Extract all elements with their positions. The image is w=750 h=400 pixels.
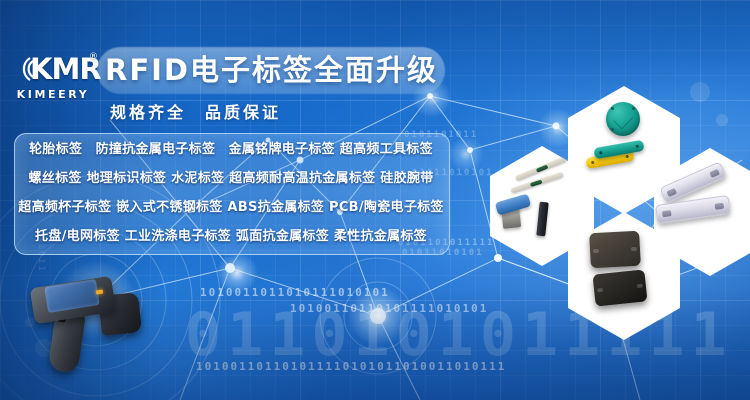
rfid-promo-banner: 0110101011111 1010011011010111010101 101… [0,0,750,400]
binary-text-3: 101001101101011110101011010011010111 [196,360,506,373]
handheld-rfid-reader [24,268,164,386]
product-row: 螺丝标签 地理标识标签 水泥标签 超高频耐高温抗金属标签 硅胶腕带 [14,164,448,193]
glow-node-mid [448,136,484,172]
registered-trademark-icon: ® [89,53,97,62]
glow-node-mid2 [216,252,258,294]
abs-tag-upper [589,231,641,269]
brand-wordmark: KIMEERY [12,88,94,101]
product-row: 超高频杯子标签 嵌入式不锈钢标签 ABS抗金属标签 PCB/陶瓷电子标签 [14,193,448,222]
stick-tag [536,202,549,237]
headline-text: RFID电子标签全面升级 [105,48,445,93]
glow-node-center [348,286,408,346]
binary-text-2: 10100110110101111010101 [290,302,488,315]
brand-arcs-icon [14,56,34,82]
disc-tag [606,102,640,136]
binary-text-1: 1010011011010111010101 [200,286,390,299]
product-list-rows: 轮胎标签 防撞抗金属电子标签 金属铭牌电子标签 超高频工具标签 螺丝标签 地理标… [14,133,448,253]
brand-mark: KMR ® [12,52,94,86]
brand-logo: KMR ® KIMEERY [12,52,94,108]
product-row: 托盘/电网标签 工业洗涤电子标签 弧面抗金属标签 柔性抗金属标签 [14,222,448,251]
subtitle-text: 规格齐全 品质保证 [110,99,281,123]
product-row: 轮胎标签 防撞抗金属电子标签 金属铭牌电子标签 超高频工具标签 [14,135,448,164]
abs-tag-lower [592,269,647,306]
